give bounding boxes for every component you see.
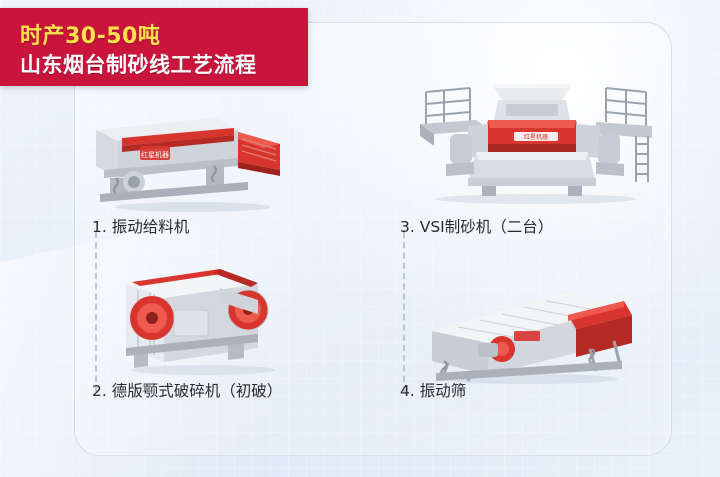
- flow-item-3-label: 3. VSI制砂机（二台）: [400, 215, 553, 237]
- banner-title-line1: 时产30-50吨: [20, 18, 160, 50]
- flow-item-1[interactable]: 1. 振动给料机: [92, 215, 342, 247]
- connector-right-vertical: [403, 232, 405, 392]
- flow-item-1-label: 1. 振动给料机: [92, 215, 189, 237]
- svg-text:红星机器: 红星机器: [141, 150, 169, 159]
- banner-title-line2: 山东烟台制砂线工艺流程: [20, 49, 257, 79]
- flow-item-3[interactable]: 3. VSI制砂机（二台）: [400, 215, 660, 247]
- vibrating-feeder-image: 红星机器: [88, 108, 288, 213]
- flowchart-canvas: 时产30-50吨 山东烟台制砂线工艺流程 1. 振动给料机: [0, 0, 720, 477]
- flow-item-2[interactable]: 2. 德版颚式破碎机（初破）: [92, 379, 392, 411]
- vibrating-screen-image: [418, 275, 638, 385]
- vsi-sand-maker-image: 红星机器: [410, 78, 660, 206]
- title-banner: 时产30-50吨 山东烟台制砂线工艺流程: [0, 8, 308, 86]
- jaw-crusher-image: [108, 248, 298, 376]
- flow-item-4-label: 4. 振动筛: [400, 379, 466, 401]
- svg-text:红星机器: 红星机器: [524, 133, 548, 141]
- flow-item-4[interactable]: 4. 振动筛: [400, 379, 600, 411]
- flow-item-2-label: 2. 德版颚式破碎机（初破）: [92, 379, 282, 401]
- connector-left-vertical: [95, 232, 97, 392]
